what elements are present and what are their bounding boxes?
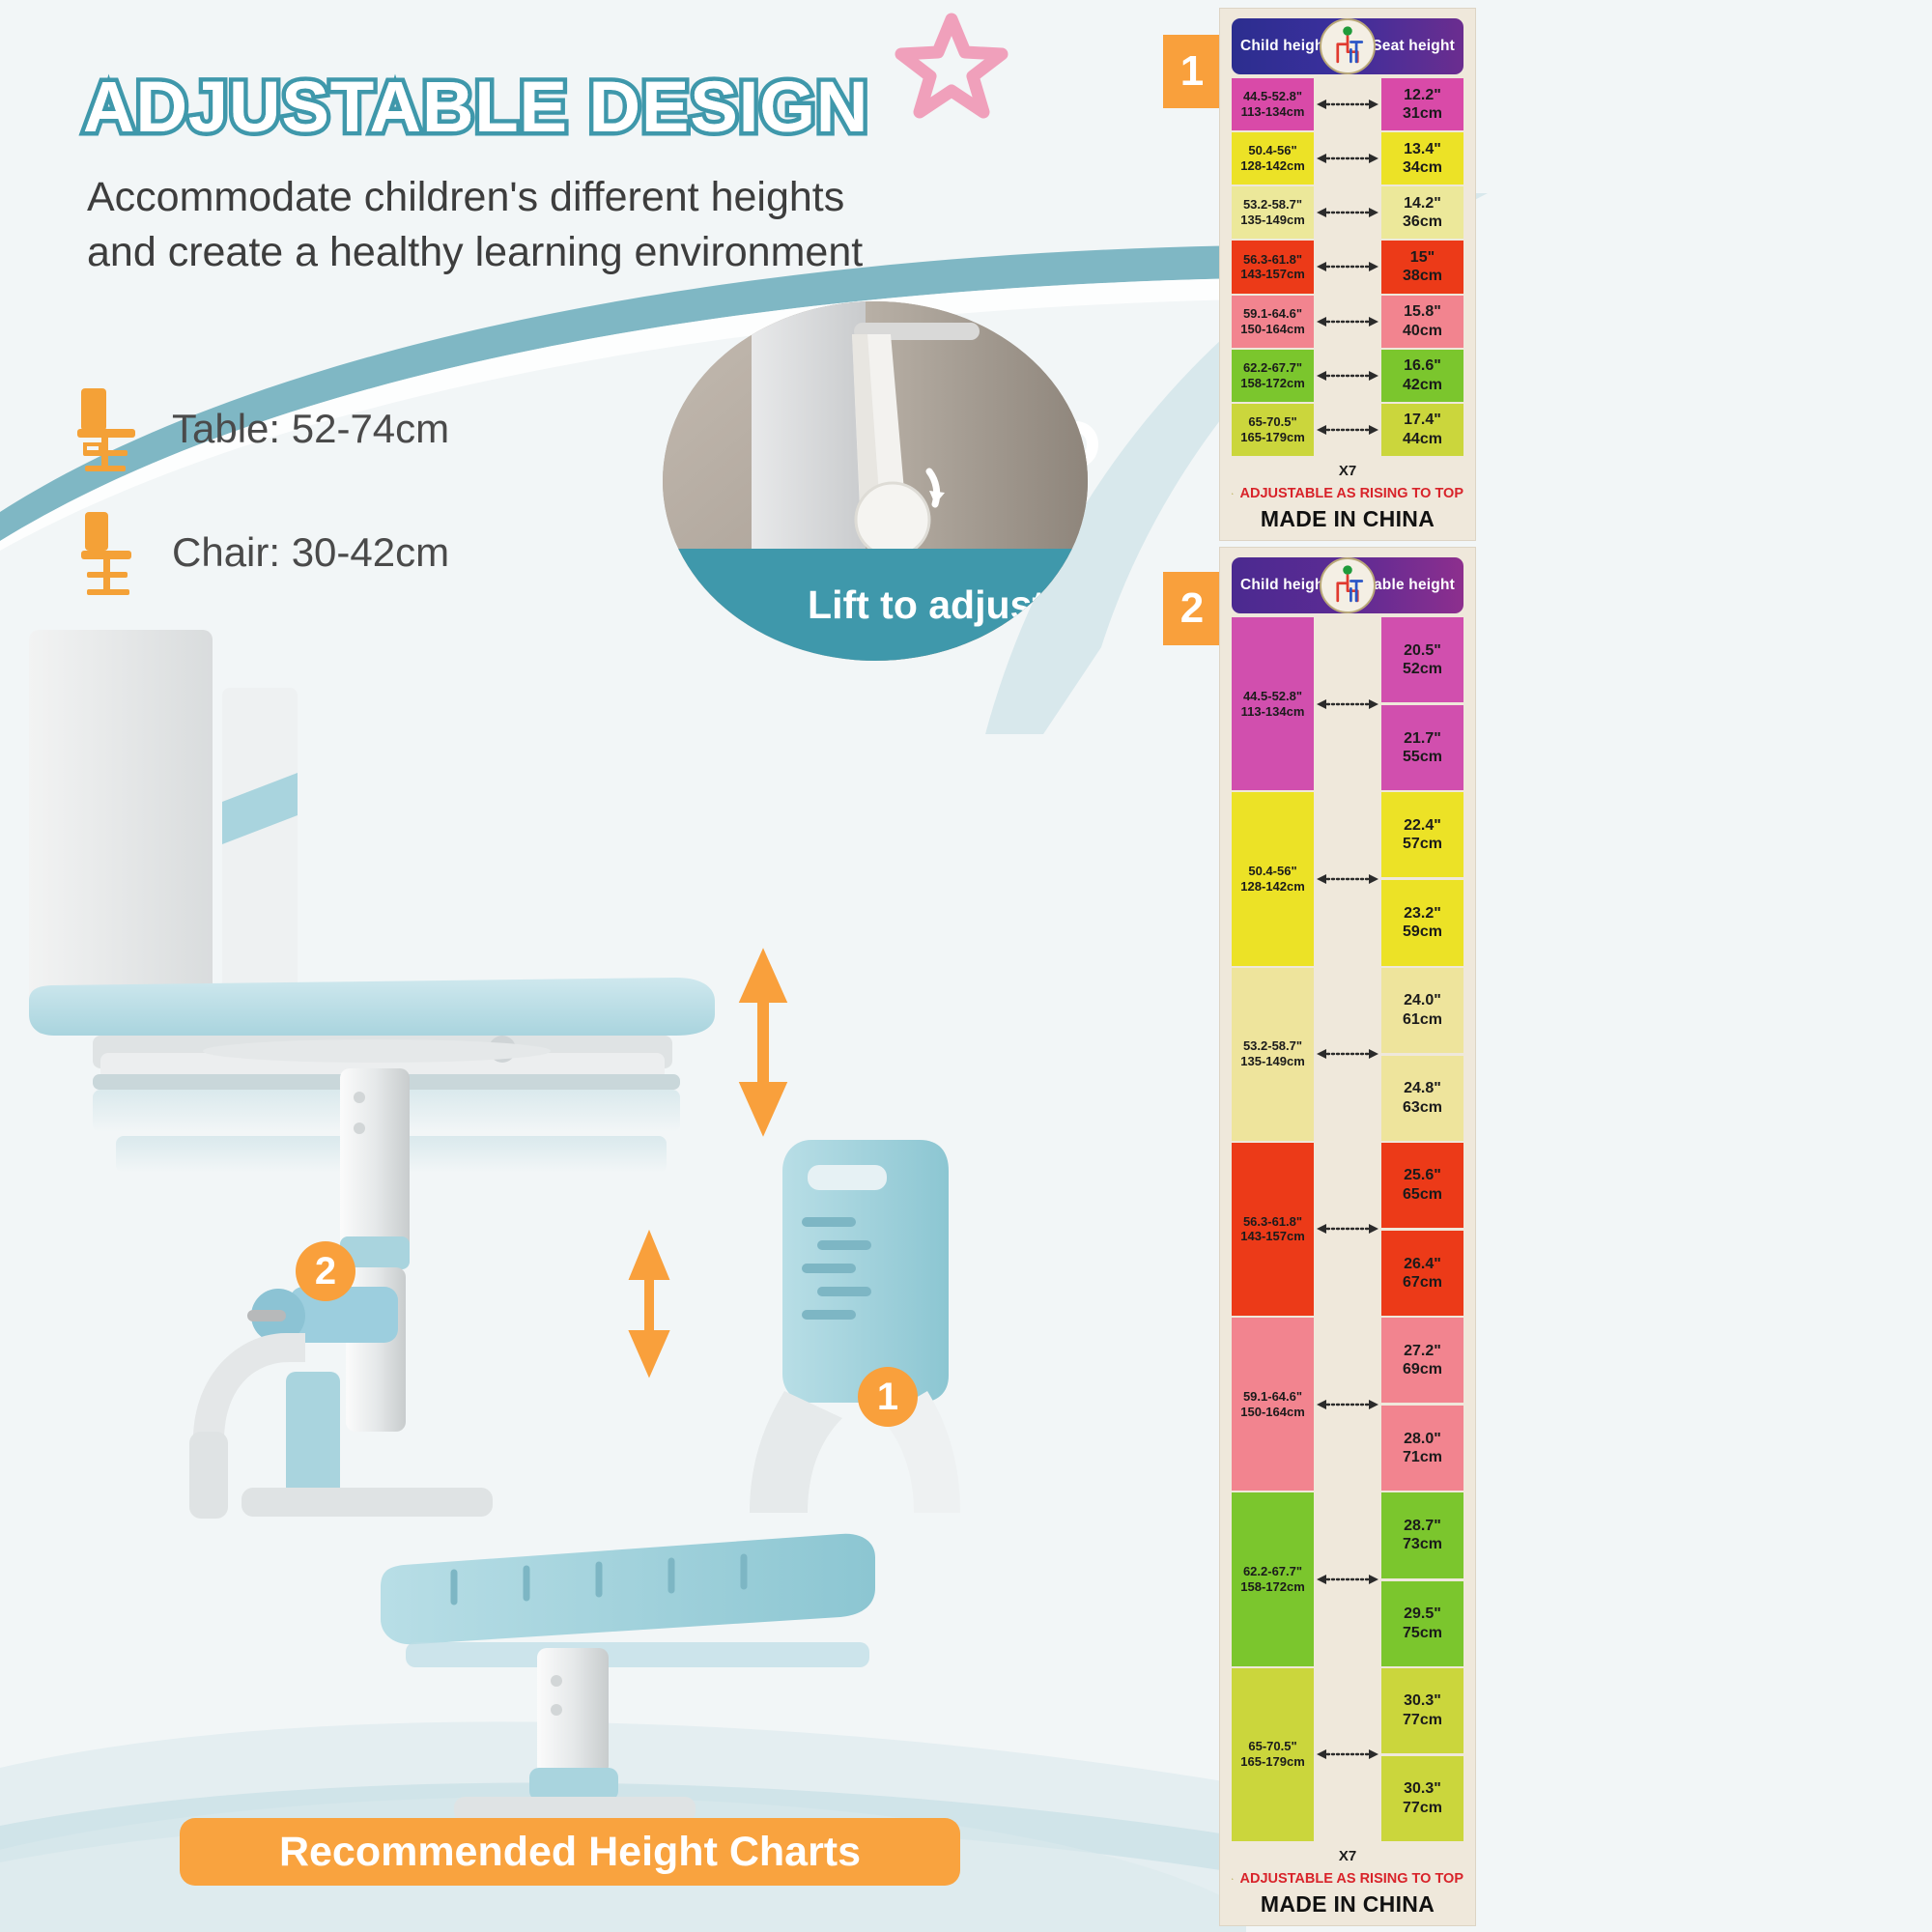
row-connector — [1317, 1318, 1378, 1491]
bottom-banner: Recommended Height Charts — [180, 1818, 960, 1886]
target-height-cm: 63cm — [1403, 1098, 1442, 1118]
child-height-inch: 62.2-67.7" — [1243, 1564, 1302, 1579]
chart-rows: 44.5-52.8" 113-134cm 20.5" 52cm 21.7" 55… — [1232, 613, 1463, 1841]
double-arrow-icon — [1317, 153, 1378, 164]
row-connector — [1317, 132, 1378, 185]
chart-multiplier: X7 — [1232, 463, 1463, 479]
chart-footer: X7 ADJUSTABLE AS RISING TO TOP MADE IN C… — [1232, 1841, 1463, 1918]
double-arrow-icon — [1317, 698, 1378, 710]
chart-header: Child height Seat height — [1232, 18, 1463, 74]
chart-row: 44.5-52.8" 113-134cm 12.2" 31cm — [1232, 78, 1463, 130]
child-height-cm: 113-134cm — [1241, 704, 1305, 720]
height-chart-table: Child height Table height 44.5-52.8" 113… — [1219, 547, 1476, 1926]
child-height-cell: 50.4-56" 128-142cm — [1232, 792, 1314, 965]
target-height-cm: 59cm — [1403, 923, 1442, 942]
target-height-cell: 25.6" 65cm 26.4" 67cm — [1381, 1143, 1463, 1316]
target-height-cm: 38cm — [1403, 267, 1442, 286]
double-arrow-icon — [1317, 1748, 1378, 1760]
target-height-inch: 26.4" — [1404, 1255, 1441, 1274]
row-connector — [1317, 404, 1378, 456]
chart-row: 65-70.5" 165-179cm 17.4" 44cm — [1232, 404, 1463, 456]
target-height-value: 15" 38cm — [1381, 241, 1463, 293]
target-height-cm: 65cm — [1403, 1185, 1442, 1205]
height-chart-seat: Child height Seat height 44.5-52.8" 113-… — [1219, 8, 1476, 541]
double-arrow-icon — [1317, 1048, 1378, 1060]
child-height-cell: 62.2-67.7" 158-172cm — [1232, 1492, 1314, 1665]
target-height-cell: 17.4" 44cm — [1381, 404, 1463, 456]
target-height-inch: 23.2" — [1404, 904, 1441, 923]
child-height-cell: 65-70.5" 165-179cm — [1232, 1668, 1314, 1841]
target-height-value: 30.3" 77cm — [1381, 1668, 1463, 1753]
row-connector — [1317, 1143, 1378, 1316]
target-height-value: 30.3" 77cm — [1381, 1756, 1463, 1841]
row-connector — [1317, 617, 1378, 790]
child-height-inch: 65-70.5" — [1248, 1739, 1296, 1754]
child-height-inch: 65-70.5" — [1248, 414, 1296, 430]
target-height-value: 28.0" 71cm — [1381, 1406, 1463, 1491]
target-height-inch: 24.8" — [1404, 1079, 1441, 1098]
target-height-value: 20.5" 52cm — [1381, 617, 1463, 702]
target-height-inch: 25.6" — [1404, 1166, 1441, 1185]
step-badge-2: 2 — [296, 1241, 355, 1301]
page-title: ADJUSTABLE DESIGN — [83, 66, 868, 148]
target-height-cm: 57cm — [1403, 835, 1442, 854]
target-height-inch: 16.6" — [1404, 356, 1441, 376]
warning-triangle-icon — [1232, 1867, 1234, 1890]
child-height-cm: 143-157cm — [1240, 267, 1305, 282]
target-height-inch: 14.2" — [1404, 194, 1441, 213]
child-height-cm: 158-172cm — [1240, 376, 1305, 391]
child-height-inch: 53.2-58.7" — [1243, 197, 1302, 213]
chart-warning: ADJUSTABLE AS RISING TO TOP — [1232, 482, 1463, 505]
spec-table: Table: 52-74cm — [71, 386, 449, 471]
chart-row: 53.2-58.7" 135-149cm 24.0" 61cm 24.8" 63… — [1232, 968, 1463, 1141]
target-height-value: 12.2" 31cm — [1381, 78, 1463, 130]
double-arrow-icon — [1317, 1574, 1378, 1585]
star-doodle-icon — [894, 10, 1009, 124]
child-height-inch: 50.4-56" — [1248, 864, 1296, 879]
child-height-inch: 59.1-64.6" — [1243, 306, 1302, 322]
chart-header-right: Seat height — [1372, 38, 1455, 55]
target-height-value: 15.8" 40cm — [1381, 296, 1463, 348]
target-height-cell: 22.4" 57cm 23.2" 59cm — [1381, 792, 1463, 965]
chart-warning: ADJUSTABLE AS RISING TO TOP — [1232, 1867, 1463, 1890]
target-height-inch: 12.2" — [1404, 86, 1441, 105]
desk-icon — [71, 386, 149, 471]
target-height-value: 24.0" 61cm — [1381, 968, 1463, 1053]
child-height-cell: 56.3-61.8" 143-157cm — [1232, 1143, 1314, 1316]
chart-row: 62.2-67.7" 158-172cm 16.6" 42cm — [1232, 350, 1463, 402]
step-badge-1: 1 — [858, 1367, 918, 1427]
product-illustration — [0, 599, 1227, 1884]
row-connector — [1317, 968, 1378, 1141]
child-height-cm: 128-142cm — [1240, 158, 1305, 174]
target-height-inch: 20.5" — [1404, 641, 1441, 661]
target-height-value: 25.6" 65cm — [1381, 1143, 1463, 1228]
spec-table-label: Table: 52-74cm — [172, 406, 449, 452]
child-height-cell: 56.3-61.8" 143-157cm — [1232, 241, 1314, 293]
child-height-cm: 143-157cm — [1240, 1229, 1305, 1244]
chart-multiplier: X7 — [1232, 1848, 1463, 1864]
child-height-inch: 56.3-61.8" — [1243, 252, 1302, 268]
child-height-cell: 50.4-56" 128-142cm — [1232, 132, 1314, 185]
chart-row: 44.5-52.8" 113-134cm 20.5" 52cm 21.7" 55… — [1232, 617, 1463, 790]
target-height-cell: 20.5" 52cm 21.7" 55cm — [1381, 617, 1463, 790]
double-arrow-icon — [1317, 99, 1378, 110]
warning-triangle-icon — [1232, 482, 1234, 505]
row-connector — [1317, 241, 1378, 293]
target-height-cm: 31cm — [1403, 104, 1442, 124]
child-height-cell: 59.1-64.6" 150-164cm — [1232, 1318, 1314, 1491]
target-height-inch: 13.4" — [1404, 140, 1441, 159]
double-arrow-icon — [1317, 370, 1378, 382]
double-arrow-icon — [1317, 207, 1378, 218]
child-height-cm: 165-179cm — [1240, 1754, 1305, 1770]
row-connector — [1317, 186, 1378, 239]
target-height-inch: 27.2" — [1404, 1342, 1441, 1361]
target-height-cell: 30.3" 77cm 30.3" 77cm — [1381, 1668, 1463, 1841]
target-height-value: 23.2" 59cm — [1381, 880, 1463, 965]
child-height-cm: 158-172cm — [1240, 1579, 1305, 1595]
target-height-value: 27.2" 69cm — [1381, 1318, 1463, 1403]
child-height-inch: 56.3-61.8" — [1243, 1214, 1302, 1230]
chart-tab-2: 2 — [1163, 572, 1221, 645]
target-height-value: 21.7" 55cm — [1381, 705, 1463, 790]
target-height-value: 14.2" 36cm — [1381, 186, 1463, 239]
chart-row: 56.3-61.8" 143-157cm 15" 38cm — [1232, 241, 1463, 293]
target-height-cm: 40cm — [1403, 322, 1442, 341]
target-height-cm: 71cm — [1403, 1448, 1442, 1467]
target-height-value: 28.7" 73cm — [1381, 1492, 1463, 1577]
target-height-cell: 24.0" 61cm 24.8" 63cm — [1381, 968, 1463, 1141]
child-height-cell: 44.5-52.8" 113-134cm — [1232, 617, 1314, 790]
target-height-cm: 75cm — [1403, 1624, 1442, 1643]
target-height-cm: 77cm — [1403, 1799, 1442, 1818]
child-height-inch: 44.5-52.8" — [1243, 89, 1302, 104]
chart-origin-text: MADE IN CHINA — [1232, 506, 1463, 532]
double-arrow-icon — [1317, 873, 1378, 885]
child-height-inch: 53.2-58.7" — [1243, 1038, 1302, 1054]
chart-warning-text: ADJUSTABLE AS RISING TO TOP — [1240, 486, 1464, 501]
target-height-cell: 27.2" 69cm 28.0" 71cm — [1381, 1318, 1463, 1491]
double-arrow-icon — [1317, 424, 1378, 436]
chart-footer: X7 ADJUSTABLE AS RISING TO TOP MADE IN C… — [1232, 456, 1463, 532]
target-height-inch: 21.7" — [1404, 729, 1441, 749]
row-connector — [1317, 78, 1378, 130]
child-height-inch: 62.2-67.7" — [1243, 360, 1302, 376]
child-height-cell: 62.2-67.7" 158-172cm — [1232, 350, 1314, 402]
target-height-cm: 77cm — [1403, 1711, 1442, 1730]
target-height-inch: 28.0" — [1404, 1430, 1441, 1449]
chart-row: 50.4-56" 128-142cm 22.4" 57cm 23.2" 59cm — [1232, 792, 1463, 965]
row-connector — [1317, 792, 1378, 965]
chart-header-left: Child height — [1240, 38, 1329, 55]
chart-row: 50.4-56" 128-142cm 13.4" 34cm — [1232, 132, 1463, 185]
child-height-cm: 113-134cm — [1241, 104, 1305, 120]
chart-header-left: Child height — [1240, 577, 1329, 594]
child-height-cm: 135-149cm — [1240, 213, 1305, 228]
target-height-cm: 61cm — [1403, 1010, 1442, 1030]
child-height-cell: 59.1-64.6" 150-164cm — [1232, 296, 1314, 348]
chart-row: 65-70.5" 165-179cm 30.3" 77cm 30.3" 77cm — [1232, 1668, 1463, 1841]
chart-row: 59.1-64.6" 150-164cm 27.2" 69cm 28.0" 71… — [1232, 1318, 1463, 1491]
chart-row: 56.3-61.8" 143-157cm 25.6" 65cm 26.4" 67… — [1232, 1143, 1463, 1316]
target-height-inch: 28.7" — [1404, 1517, 1441, 1536]
child-height-cell: 53.2-58.7" 135-149cm — [1232, 968, 1314, 1141]
child-height-cm: 128-142cm — [1240, 879, 1305, 895]
target-height-cm: 42cm — [1403, 376, 1442, 395]
child-height-inch: 59.1-64.6" — [1243, 1389, 1302, 1405]
chart-row: 53.2-58.7" 135-149cm 14.2" 36cm — [1232, 186, 1463, 239]
double-arrow-icon — [1317, 261, 1378, 272]
target-height-cell: 14.2" 36cm — [1381, 186, 1463, 239]
target-height-value: 24.8" 63cm — [1381, 1056, 1463, 1141]
child-height-cell: 44.5-52.8" 113-134cm — [1232, 78, 1314, 130]
chair-icon — [71, 510, 149, 595]
page-subtitle: Accommodate children's different heights… — [87, 170, 863, 280]
spec-chair: Chair: 30-42cm — [71, 510, 449, 595]
target-height-cm: 67cm — [1403, 1273, 1442, 1293]
target-height-inch: 15.8" — [1404, 302, 1441, 322]
child-height-inch: 50.4-56" — [1248, 143, 1296, 158]
target-height-inch: 30.3" — [1404, 1691, 1441, 1711]
child-height-cm: 165-179cm — [1240, 430, 1305, 445]
target-height-inch: 24.0" — [1404, 991, 1441, 1010]
target-height-cm: 44cm — [1403, 430, 1442, 449]
chart-tab-1: 1 — [1163, 35, 1221, 108]
child-height-cm: 135-149cm — [1240, 1054, 1305, 1069]
target-height-cm: 55cm — [1403, 748, 1442, 767]
row-connector — [1317, 296, 1378, 348]
target-height-cell: 13.4" 34cm — [1381, 132, 1463, 185]
target-height-value: 13.4" 34cm — [1381, 132, 1463, 185]
child-height-cell: 65-70.5" 165-179cm — [1232, 404, 1314, 456]
target-height-cell: 12.2" 31cm — [1381, 78, 1463, 130]
chart-rows: 44.5-52.8" 113-134cm 12.2" 31cm 50.4-56"… — [1232, 74, 1463, 456]
chart-header: Child height Table height — [1232, 557, 1463, 613]
chart-row: 59.1-64.6" 150-164cm 15.8" 40cm — [1232, 296, 1463, 348]
target-height-value: 16.6" 42cm — [1381, 350, 1463, 402]
target-height-value: 29.5" 75cm — [1381, 1581, 1463, 1666]
double-arrow-icon — [1317, 1223, 1378, 1235]
double-arrow-icon — [1317, 316, 1378, 327]
infographic-canvas: ADJUSTABLE DESIGN ADJUSTABLE DESIGN Acco… — [0, 0, 1932, 1932]
child-height-cm: 150-164cm — [1240, 322, 1305, 337]
row-connector — [1317, 1492, 1378, 1665]
child-height-cm: 150-164cm — [1240, 1405, 1305, 1420]
row-connector — [1317, 1668, 1378, 1841]
double-arrow-icon — [1317, 1399, 1378, 1410]
target-height-cm: 36cm — [1403, 213, 1442, 232]
target-height-cm: 69cm — [1403, 1360, 1442, 1379]
target-height-cell: 28.7" 73cm 29.5" 75cm — [1381, 1492, 1463, 1665]
target-height-inch: 17.4" — [1404, 411, 1441, 430]
child-height-inch: 44.5-52.8" — [1243, 689, 1302, 704]
target-height-inch: 15" — [1410, 248, 1435, 268]
target-height-value: 22.4" 57cm — [1381, 792, 1463, 877]
seated-child-emblem — [1320, 557, 1376, 613]
bottom-banner-label: Recommended Height Charts — [279, 1829, 861, 1876]
target-height-cell: 16.6" 42cm — [1381, 350, 1463, 402]
chart-header-right: Table height — [1365, 577, 1455, 594]
chart-warning-text: ADJUSTABLE AS RISING TO TOP — [1240, 1871, 1464, 1887]
target-height-value: 17.4" 44cm — [1381, 404, 1463, 456]
target-height-cell: 15" 38cm — [1381, 241, 1463, 293]
target-height-inch: 30.3" — [1404, 1779, 1441, 1799]
target-height-cm: 34cm — [1403, 158, 1442, 178]
target-height-cm: 52cm — [1403, 660, 1442, 679]
target-height-inch: 29.5" — [1404, 1605, 1441, 1624]
target-height-inch: 22.4" — [1404, 816, 1441, 836]
row-connector — [1317, 350, 1378, 402]
chart-row: 62.2-67.7" 158-172cm 28.7" 73cm 29.5" 75… — [1232, 1492, 1463, 1665]
chart-origin-text: MADE IN CHINA — [1232, 1891, 1463, 1918]
target-height-cell: 15.8" 40cm — [1381, 296, 1463, 348]
seated-child-emblem — [1320, 18, 1376, 74]
spec-chair-label: Chair: 30-42cm — [172, 529, 449, 576]
target-height-cm: 73cm — [1403, 1535, 1442, 1554]
child-height-cell: 53.2-58.7" 135-149cm — [1232, 186, 1314, 239]
target-height-value: 26.4" 67cm — [1381, 1231, 1463, 1316]
